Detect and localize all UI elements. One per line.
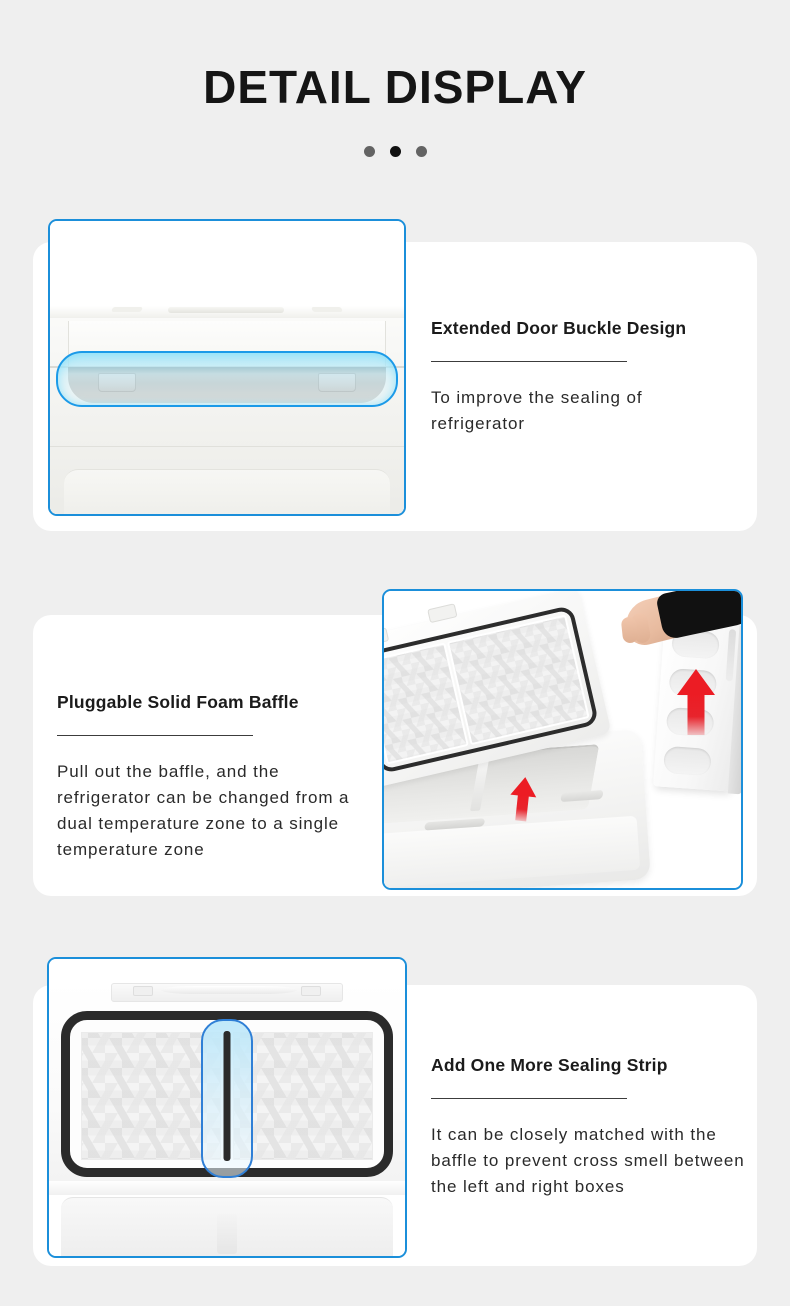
page-header: DETAIL DISPLAY — [0, 0, 790, 190]
top-nub-right — [311, 307, 343, 312]
arrow-head — [677, 669, 715, 695]
lower-seam-line — [48, 446, 406, 447]
feature-title: Add One More Sealing Strip — [431, 1055, 756, 1076]
arrow-shaft — [515, 794, 529, 821]
feature-text-pluggable-solid-foam-baffle: Pluggable Solid Foam Baffle Pull out the… — [57, 692, 367, 863]
cabinet-front-panel — [382, 816, 640, 889]
scene-refrigerator-front — [50, 221, 404, 514]
highlight-door-buckle — [56, 351, 398, 407]
title-divider — [431, 361, 627, 362]
base-bevel — [64, 469, 390, 516]
carousel-dot-3[interactable] — [416, 146, 427, 157]
page-title: DETAIL DISPLAY — [0, 64, 790, 110]
feature-image-extended-door-buckle — [48, 219, 406, 516]
foam-panel-left — [81, 1032, 221, 1160]
title-divider — [57, 735, 253, 736]
arrow-up-icon-baffle — [677, 669, 715, 735]
lid-latch-left — [382, 627, 389, 647]
lid-lip-curve — [161, 986, 297, 994]
base-ledge — [47, 1181, 407, 1195]
scene-open-cooler — [384, 591, 741, 888]
carousel-dot-2[interactable] — [390, 146, 401, 157]
interior-side-handle — [560, 790, 604, 802]
center-sealing-strip — [224, 1031, 231, 1161]
foam-texture — [233, 1032, 373, 1160]
lid-latch-left — [133, 986, 153, 996]
base-center-tab — [217, 1214, 237, 1254]
feature-text-extended-door-buckle: Extended Door Buckle Design To improve t… — [431, 318, 741, 437]
feature-title: Extended Door Buckle Design — [431, 318, 741, 339]
foam-texture — [81, 1032, 221, 1160]
top-slot — [168, 307, 284, 313]
arrow-up-icon-divider — [508, 776, 538, 822]
lid-latch-right — [301, 986, 321, 996]
feature-image-pluggable-solid-foam-baffle — [382, 589, 743, 890]
baffle-grip — [726, 629, 737, 681]
top-nub-left — [111, 307, 143, 312]
carousel-dots — [0, 146, 790, 157]
feature-body: To improve the sealing of refrigerator — [431, 385, 741, 437]
feature-body: Pull out the baffle, and the refrigerato… — [57, 759, 367, 863]
foam-panel-right — [233, 1032, 373, 1160]
title-divider — [431, 1098, 627, 1099]
feature-text-add-one-more-sealing-strip: Add One More Sealing Strip It can be clo… — [431, 1055, 756, 1200]
feature-title: Pluggable Solid Foam Baffle — [57, 692, 367, 713]
feature-body: It can be closely matched with the baffl… — [431, 1122, 756, 1200]
carousel-dot-1[interactable] — [364, 146, 375, 157]
baffle-slot-4 — [663, 746, 712, 776]
finger-2 — [621, 616, 639, 643]
scene-lid-interior — [49, 959, 405, 1256]
feature-image-add-one-more-sealing-strip — [47, 957, 407, 1258]
arrow-shaft — [688, 694, 705, 735]
